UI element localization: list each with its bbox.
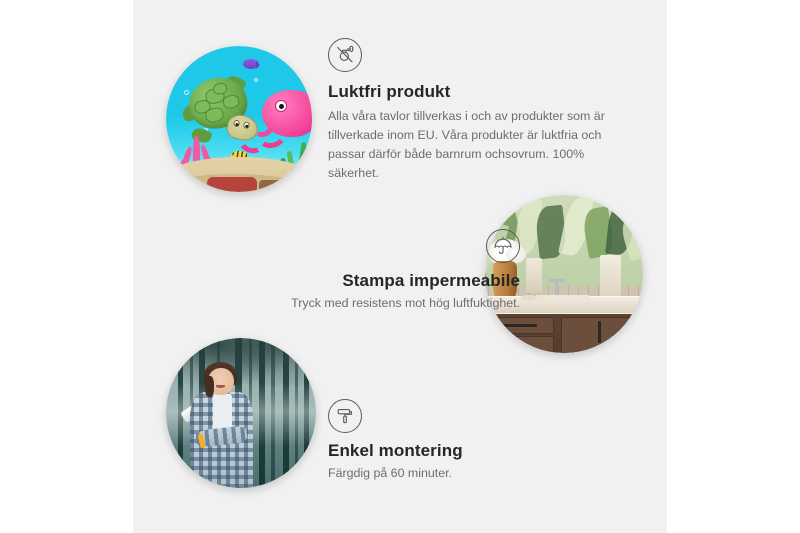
feature-body: Färgdig på 60 minuter. <box>328 464 608 483</box>
paint-roller-icon <box>328 399 362 433</box>
wood-vanity <box>485 314 643 354</box>
infographic-canvas: Luktfri produkt Alla våra tavlor tillver… <box>0 0 800 533</box>
content-panel: Luktfri produkt Alla våra tavlor tillver… <box>133 0 667 533</box>
feature-block-waterproof: Stampa impermeabile Tryck med resistens … <box>208 229 520 313</box>
umbrella-icon <box>486 229 520 263</box>
feature-body: Alla våra tavlor tillverkas i och av pro… <box>328 107 628 182</box>
feature-body: Tryck med resistens mot hög luftfuktighe… <box>208 294 520 313</box>
feature-title: Enkel montering <box>328 440 608 461</box>
octopus-head <box>262 90 312 137</box>
feature-title: Stampa impermeabile <box>208 270 520 291</box>
photo-forest-scene <box>166 338 316 488</box>
woman-smile <box>216 385 225 389</box>
sunken-boat <box>207 177 257 192</box>
bubble-icon <box>184 90 189 95</box>
woman-inner-shirt <box>213 394 233 430</box>
treasure-chest <box>259 180 288 192</box>
feature-block-assembly: Enkel montering Färgdig på 60 minuter. <box>328 399 608 483</box>
bubble-icon <box>254 78 258 82</box>
photo-forest-inner <box>166 338 316 488</box>
wall-lamp <box>526 258 542 293</box>
woman-hair-side <box>205 376 214 397</box>
soap-dish <box>520 295 537 301</box>
hand-towel <box>600 255 621 301</box>
photo-underwater-scene <box>166 46 312 192</box>
feature-block-odorless: Luktfri produkt Alla våra tavlor tillver… <box>328 38 628 183</box>
fish-purple-icon <box>243 59 259 69</box>
no-fragrance-spray-icon <box>328 38 362 72</box>
photo-underwater-inner <box>166 46 312 192</box>
sink-basin <box>536 295 590 303</box>
feature-title: Luktfri produkt <box>328 81 628 102</box>
